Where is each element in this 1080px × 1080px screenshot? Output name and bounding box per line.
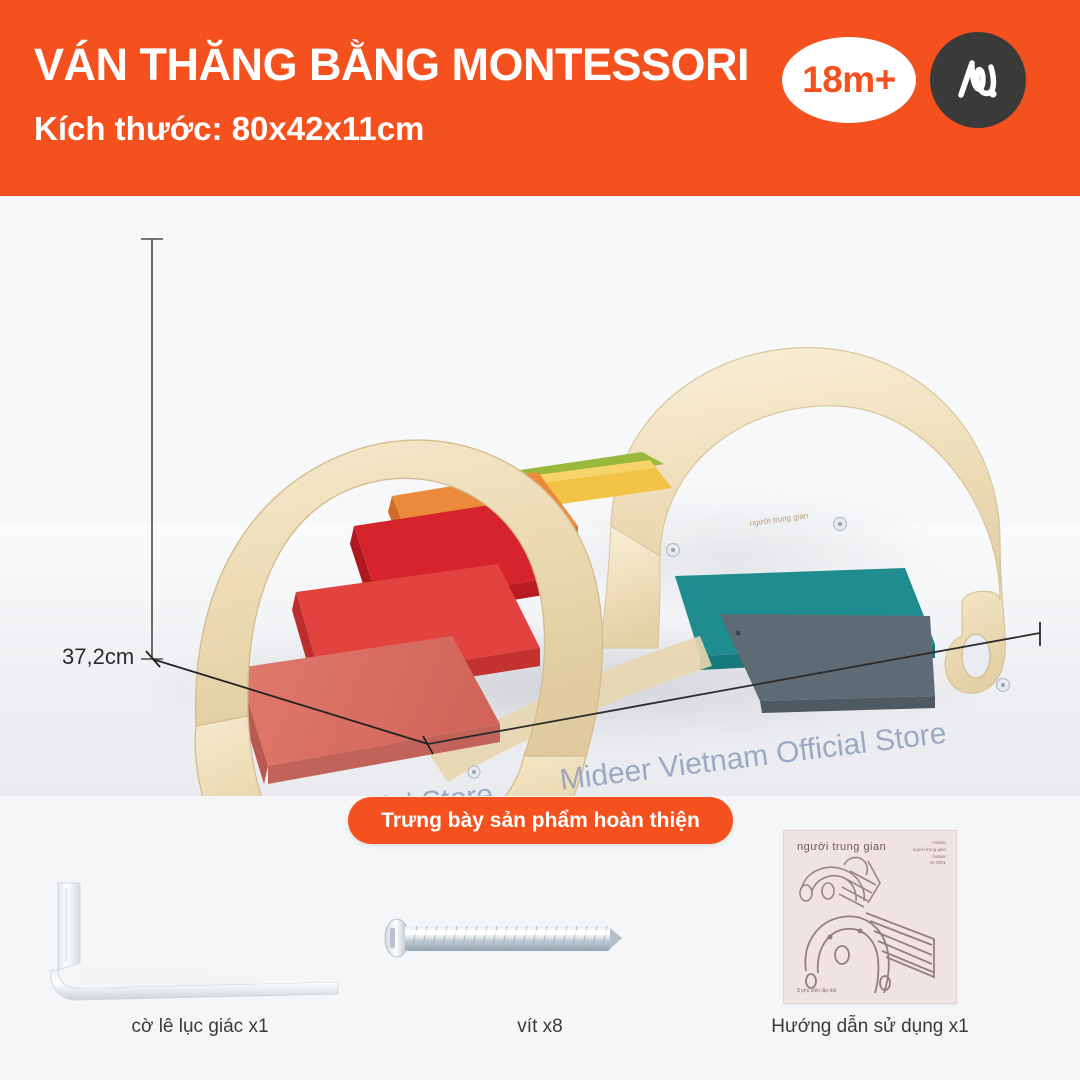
hex-wrench-icon bbox=[35, 870, 365, 1010]
product-infographic: VÁN THĂNG BẰNG MONTESSORI Kích thước: 80… bbox=[0, 0, 1080, 1080]
part-hex-wrench: cờ lê lục giác x1 bbox=[35, 870, 365, 1038]
screw-caption: vít x8 bbox=[375, 1016, 705, 1038]
header-banner: VÁN THĂNG BẰNG MONTESSORI Kích thước: 80… bbox=[0, 0, 1080, 196]
page-subtitle: Kích thước: 80x42x11cm bbox=[34, 110, 424, 148]
part-manual: người trung gian mideer người trung gian… bbox=[705, 830, 1035, 1038]
display-finished-product-button[interactable]: Trưng bày sản phẩm hoàn thiện bbox=[348, 797, 733, 844]
age-badge-label: 18m+ bbox=[802, 59, 896, 101]
age-badge: 18m+ bbox=[782, 37, 916, 123]
parts-list: cờ lê lục giác x1 bbox=[0, 860, 1080, 1080]
hex-wrench-caption: cờ lê lục giác x1 bbox=[35, 1016, 365, 1038]
manual-booklet-icon: người trung gian mideer người trung gian… bbox=[705, 830, 1035, 1010]
brand-engraving: người trung gian bbox=[749, 511, 809, 528]
manual-footer: $ phụ kiện lắp đặt bbox=[797, 988, 836, 994]
product-photo-stage: người trung gian bbox=[0, 196, 1080, 796]
part-screw: vít x8 bbox=[375, 870, 705, 1038]
page-title: VÁN THĂNG BẰNG MONTESSORI bbox=[34, 39, 749, 91]
cta-label: Trưng bày sản phẩm hoàn thiện bbox=[381, 809, 700, 833]
manual-caption: Hướng dẫn sử dụng x1 bbox=[705, 1016, 1035, 1038]
back-slats bbox=[675, 568, 935, 713]
mideer-logo-icon bbox=[930, 32, 1026, 128]
screw-icon bbox=[375, 870, 705, 1010]
balance-board-product: người trung gian bbox=[0, 196, 1080, 796]
